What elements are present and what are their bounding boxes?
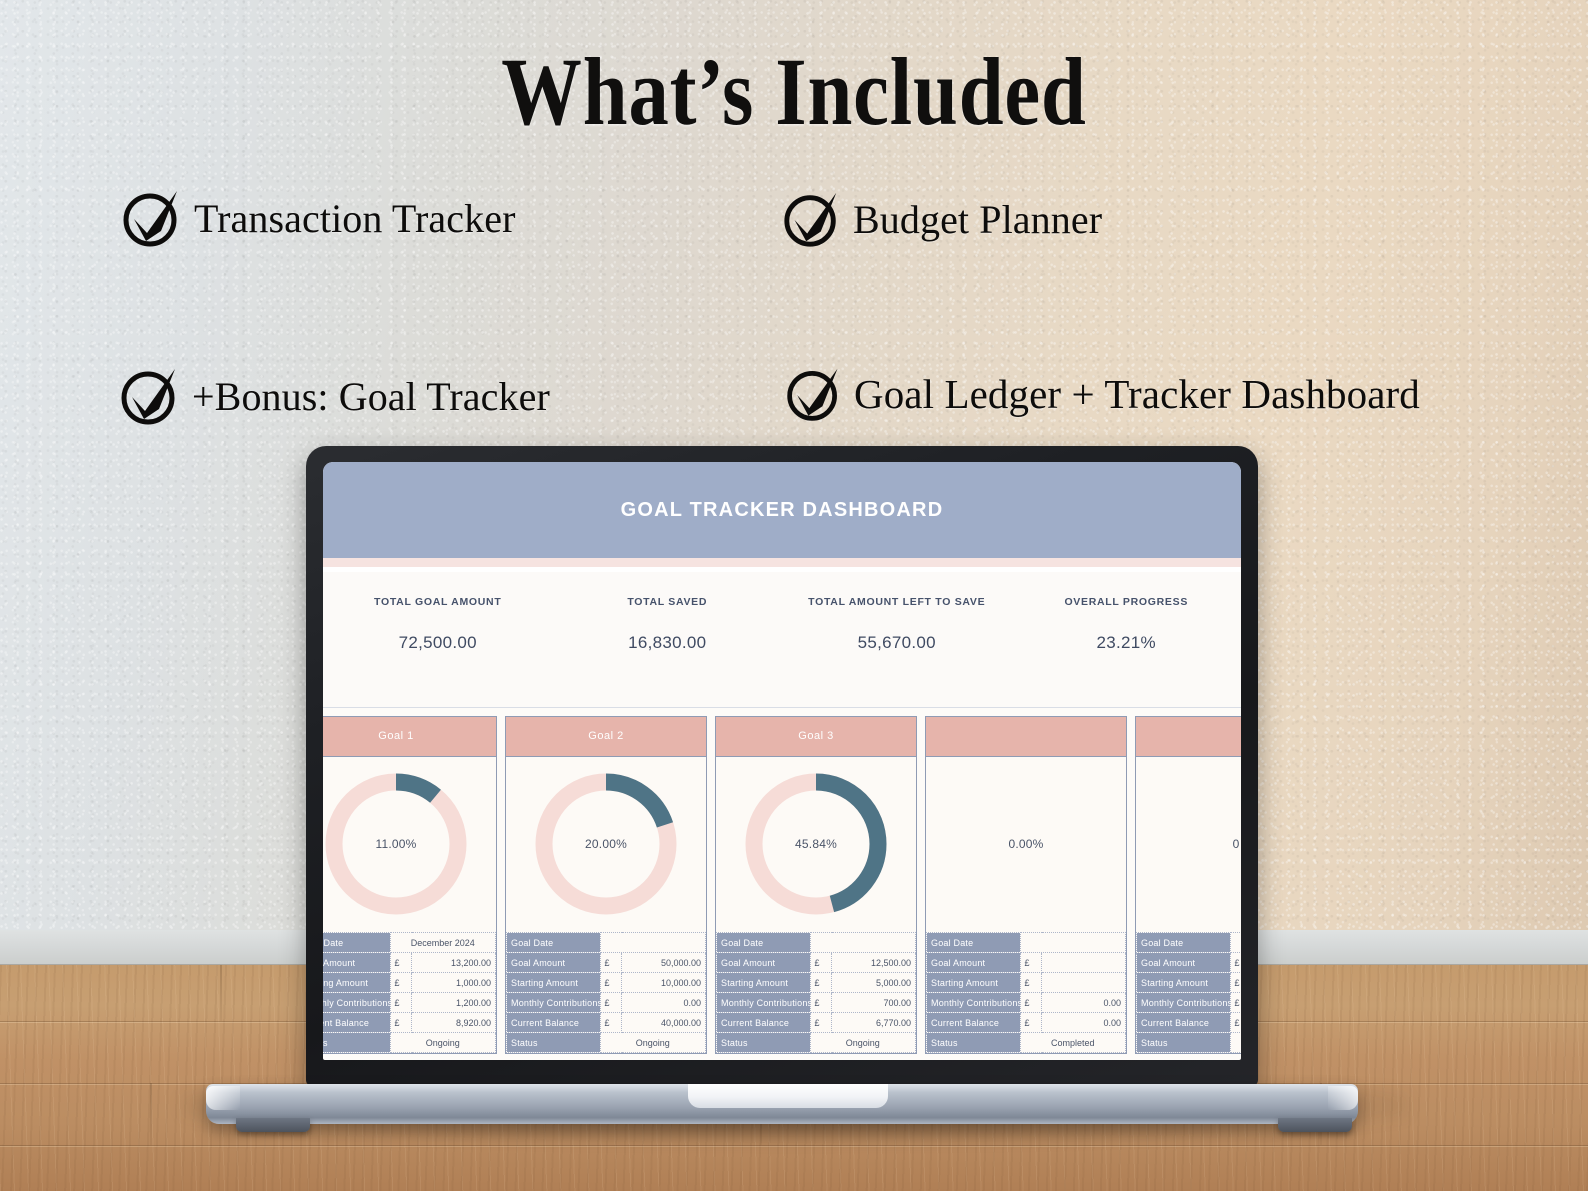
currency-symbol: £	[810, 953, 832, 973]
goal-progress-donut: 0	[1136, 757, 1241, 932]
laptop-foot-left	[236, 1118, 310, 1132]
table-row-monthly-contributions: Monthly Contributions£0.00	[927, 993, 1126, 1013]
row-value: 12,500.00	[832, 953, 916, 973]
table-row-monthly-contributions: Monthly Contributions£	[1137, 993, 1242, 1013]
goal-detail-table: Goal DateGoal Amount£50,000.00Starting A…	[506, 932, 706, 1053]
goal-card-title: Goal 1	[323, 717, 496, 757]
checklist-item-budget-planner: Budget Planner	[781, 188, 1102, 250]
currency-symbol: £	[1230, 1013, 1241, 1033]
goal-card[interactable]: Goal 220.00%Goal DateGoal Amount£50,000.…	[505, 716, 707, 1054]
table-row-starting-amount: Starting Amount£	[1137, 973, 1242, 993]
goal-percent-label: 20.00%	[531, 769, 681, 919]
row-label: Monthly Contributions	[1137, 993, 1231, 1013]
goal-card-title	[926, 717, 1126, 757]
row-value: 8,920.00	[412, 1013, 496, 1033]
row-label: Goal Date	[507, 933, 601, 953]
check-circle-icon	[781, 188, 843, 250]
currency-symbol: £	[1020, 1013, 1042, 1033]
row-label: Goal Date	[927, 933, 1021, 953]
goal-cards-row: Goal 111.00%Goal DateDecember 2024Goal A…	[323, 708, 1241, 1054]
row-value: 6,770.00	[832, 1013, 916, 1033]
goal-card[interactable]: Goal 111.00%Goal DateDecember 2024Goal A…	[323, 716, 497, 1054]
summary-label: OVERALL PROGRESS	[1012, 596, 1242, 608]
summary-label: TOTAL AMOUNT LEFT TO SAVE	[782, 596, 1012, 608]
summary-value: 16,830.00	[553, 633, 783, 653]
goal-card[interactable]: Goal 345.84%Goal DateGoal Amount£12,500.…	[715, 716, 917, 1054]
checklist-item-label: +Bonus: Goal Tracker	[192, 373, 550, 420]
row-label: Monthly Contributions	[927, 993, 1021, 1013]
table-row-current-balance: Current Balance£8,920.00	[323, 1013, 496, 1033]
dashboard-title: GOAL TRACKER DASHBOARD	[621, 499, 944, 522]
laptop-screen: GOAL TRACKER DASHBOARD TOTAL GOAL AMOUNT…	[323, 462, 1241, 1060]
table-row-goal-date: Goal Date	[507, 933, 706, 953]
row-label: Monthly Contributions	[323, 993, 390, 1013]
status-badge: Ongoing	[390, 1033, 495, 1053]
dashboard-header: GOAL TRACKER DASHBOARD	[323, 462, 1241, 558]
row-label: Current Balance	[507, 1013, 601, 1033]
laptop-base-notch	[688, 1084, 888, 1108]
summary-value: 55,670.00	[782, 633, 1012, 653]
currency-symbol: £	[600, 973, 622, 993]
goal-detail-table: Goal DateGoal Amount£12,500.00Starting A…	[716, 932, 916, 1053]
table-row-status: StatusOngoing	[323, 1033, 496, 1053]
check-circle-icon	[784, 364, 844, 424]
goal-progress-donut: 45.84%	[716, 757, 916, 932]
row-label: Monthly Contributions	[507, 993, 601, 1013]
currency-symbol: £	[1020, 953, 1042, 973]
table-row-current-balance: Current Balance£40,000.00	[507, 1013, 706, 1033]
summary-label: TOTAL SAVED	[553, 596, 783, 608]
currency-symbol: £	[1020, 973, 1042, 993]
row-label: Goal Amount	[717, 953, 811, 973]
goal-percent-label: 11.00%	[323, 769, 471, 919]
currency-symbol: £	[600, 953, 622, 973]
currency-symbol: £	[600, 1013, 622, 1033]
row-label: Starting Amount	[717, 973, 811, 993]
currency-symbol: £	[390, 953, 412, 973]
row-label: Current Balance	[927, 1013, 1021, 1033]
currency-symbol: £	[1230, 953, 1241, 973]
goal-percent-label: 0.00%	[951, 769, 1101, 919]
table-row-current-balance: Current Balance£	[1137, 1013, 1242, 1033]
summary-total-amount-left: TOTAL AMOUNT LEFT TO SAVE 55,670.00	[782, 596, 1012, 653]
table-row-monthly-contributions: Monthly Contributions£700.00	[717, 993, 916, 1013]
status-badge: Ongoing	[810, 1033, 915, 1053]
summary-label: TOTAL GOAL AMOUNT	[323, 596, 553, 608]
currency-symbol: £	[390, 993, 412, 1013]
row-value: 13,200.00	[412, 953, 496, 973]
checklist-item-bonus-goal-tracker: +Bonus: Goal Tracker	[118, 364, 550, 428]
goal-percent-label: 0	[1161, 769, 1241, 919]
row-value: 0.00	[622, 993, 706, 1013]
summary-value: 72,500.00	[323, 633, 553, 653]
row-label: Monthly Contributions	[717, 993, 811, 1013]
currency-symbol: £	[390, 1013, 412, 1033]
row-value	[810, 933, 915, 953]
row-value: 40,000.00	[622, 1013, 706, 1033]
table-row-starting-amount: Starting Amount£1,000.00	[323, 973, 496, 993]
summary-row: TOTAL GOAL AMOUNT 72,500.00 TOTAL SAVED …	[323, 572, 1241, 708]
row-label: Current Balance	[1137, 1013, 1231, 1033]
row-label: Status	[927, 1033, 1021, 1053]
row-label: Goal Amount	[507, 953, 601, 973]
row-label: Status	[323, 1033, 390, 1053]
check-circle-icon	[120, 186, 184, 250]
row-label: Goal Amount	[1137, 953, 1231, 973]
goal-progress-donut: 0.00%	[926, 757, 1126, 932]
table-row-status: StatusCompleted	[927, 1033, 1126, 1053]
row-label: Goal Date	[1137, 933, 1231, 953]
checklist-item-label: Budget Planner	[853, 196, 1102, 243]
row-value: 1,000.00	[412, 973, 496, 993]
table-row-goal-amount: Goal Amount£	[927, 953, 1126, 973]
summary-total-goal-amount: TOTAL GOAL AMOUNT 72,500.00	[323, 596, 553, 653]
status-badge: Completed	[1020, 1033, 1125, 1053]
row-label: Current Balance	[717, 1013, 811, 1033]
row-value: 0.00	[1042, 1013, 1126, 1033]
table-row-status: StatusOngoing	[507, 1033, 706, 1053]
row-value	[1230, 933, 1241, 953]
table-row-starting-amount: Starting Amount£	[927, 973, 1126, 993]
row-label: Starting Amount	[323, 973, 390, 993]
row-value	[600, 933, 705, 953]
currency-symbol: £	[600, 993, 622, 1013]
table-row-goal-amount: Goal Amount£	[1137, 953, 1242, 973]
row-label: Starting Amount	[507, 973, 601, 993]
goal-detail-table: Goal DateDecember 2024Goal Amount£13,200…	[323, 932, 496, 1053]
goal-card-title	[1136, 717, 1241, 757]
row-value	[1042, 973, 1126, 993]
row-value: 700.00	[832, 993, 916, 1013]
goal-detail-table: Goal DateGoal Amount£Starting Amount£Mon…	[926, 932, 1126, 1053]
row-value	[1020, 933, 1125, 953]
status-badge: Ongoing	[600, 1033, 705, 1053]
row-value: 5,000.00	[832, 973, 916, 993]
row-label: Status	[1137, 1033, 1231, 1053]
goal-detail-table: Goal DateGoal Amount£Starting Amount£Mon…	[1136, 932, 1241, 1053]
currency-symbol: £	[810, 993, 832, 1013]
currency-symbol: £	[1020, 993, 1042, 1013]
currency-symbol: £	[810, 973, 832, 993]
row-label: Starting Amount	[1137, 973, 1231, 993]
goal-card[interactable]: 0.00%Goal DateGoal Amount£Starting Amoun…	[925, 716, 1127, 1054]
summary-total-saved: TOTAL SAVED 16,830.00	[553, 596, 783, 653]
row-value: 10,000.00	[622, 973, 706, 993]
checklist-item-transaction-tracker: Transaction Tracker	[120, 186, 516, 250]
check-circle-icon	[118, 364, 182, 428]
row-value	[1042, 953, 1126, 973]
checklist-item-goal-ledger-dashboard: Goal Ledger + Tracker Dashboard	[784, 364, 1420, 424]
checklist-item-label: Transaction Tracker	[194, 195, 516, 242]
table-row-status: Status	[1137, 1033, 1242, 1053]
currency-symbol: £	[810, 1013, 832, 1033]
row-label: Goal Date	[323, 933, 390, 953]
row-value: 1,200.00	[412, 993, 496, 1013]
row-label: Goal Amount	[927, 953, 1021, 973]
row-label: Current Balance	[323, 1013, 390, 1033]
row-label: Status	[717, 1033, 811, 1053]
row-label: Goal Amount	[323, 953, 390, 973]
table-row-goal-amount: Goal Amount£13,200.00	[323, 953, 496, 973]
table-row-goal-date: Goal Date	[927, 933, 1126, 953]
table-row-goal-date: Goal Date	[1137, 933, 1242, 953]
goal-tracker-dashboard: GOAL TRACKER DASHBOARD TOTAL GOAL AMOUNT…	[323, 462, 1241, 1060]
status-badge	[1230, 1033, 1241, 1053]
row-value: 0.00	[1042, 993, 1126, 1013]
table-row-starting-amount: Starting Amount£5,000.00	[717, 973, 916, 993]
table-row-starting-amount: Starting Amount£10,000.00	[507, 973, 706, 993]
summary-value: 23.21%	[1012, 633, 1242, 653]
row-label: Starting Amount	[927, 973, 1021, 993]
table-row-monthly-contributions: Monthly Contributions£0.00	[507, 993, 706, 1013]
table-row-goal-amount: Goal Amount£50,000.00	[507, 953, 706, 973]
goal-card-title: Goal 3	[716, 717, 916, 757]
table-row-monthly-contributions: Monthly Contributions£1,200.00	[323, 993, 496, 1013]
laptop-foot-right	[1278, 1118, 1352, 1132]
currency-symbol: £	[1230, 993, 1241, 1013]
pink-divider	[323, 558, 1241, 567]
table-row-current-balance: Current Balance£0.00	[927, 1013, 1126, 1033]
goal-progress-donut: 11.00%	[323, 757, 496, 932]
table-row-goal-date: Goal DateDecember 2024	[323, 933, 496, 953]
table-row-current-balance: Current Balance£6,770.00	[717, 1013, 916, 1033]
table-row-goal-date: Goal Date	[717, 933, 916, 953]
summary-overall-progress: OVERALL PROGRESS 23.21%	[1012, 596, 1242, 653]
row-label: Goal Date	[717, 933, 811, 953]
checklist-item-label: Goal Ledger + Tracker Dashboard	[854, 370, 1420, 418]
goal-percent-label: 45.84%	[741, 769, 891, 919]
goal-progress-donut: 20.00%	[506, 757, 706, 932]
row-value: 50,000.00	[622, 953, 706, 973]
currency-symbol: £	[390, 973, 412, 993]
goal-card-title: Goal 2	[506, 717, 706, 757]
goal-card[interactable]: 0Goal DateGoal Amount£Starting Amount£Mo…	[1135, 716, 1241, 1054]
table-row-status: StatusOngoing	[717, 1033, 916, 1053]
currency-symbol: £	[1230, 973, 1241, 993]
row-value: December 2024	[390, 933, 495, 953]
row-label: Status	[507, 1033, 601, 1053]
table-row-goal-amount: Goal Amount£12,500.00	[717, 953, 916, 973]
